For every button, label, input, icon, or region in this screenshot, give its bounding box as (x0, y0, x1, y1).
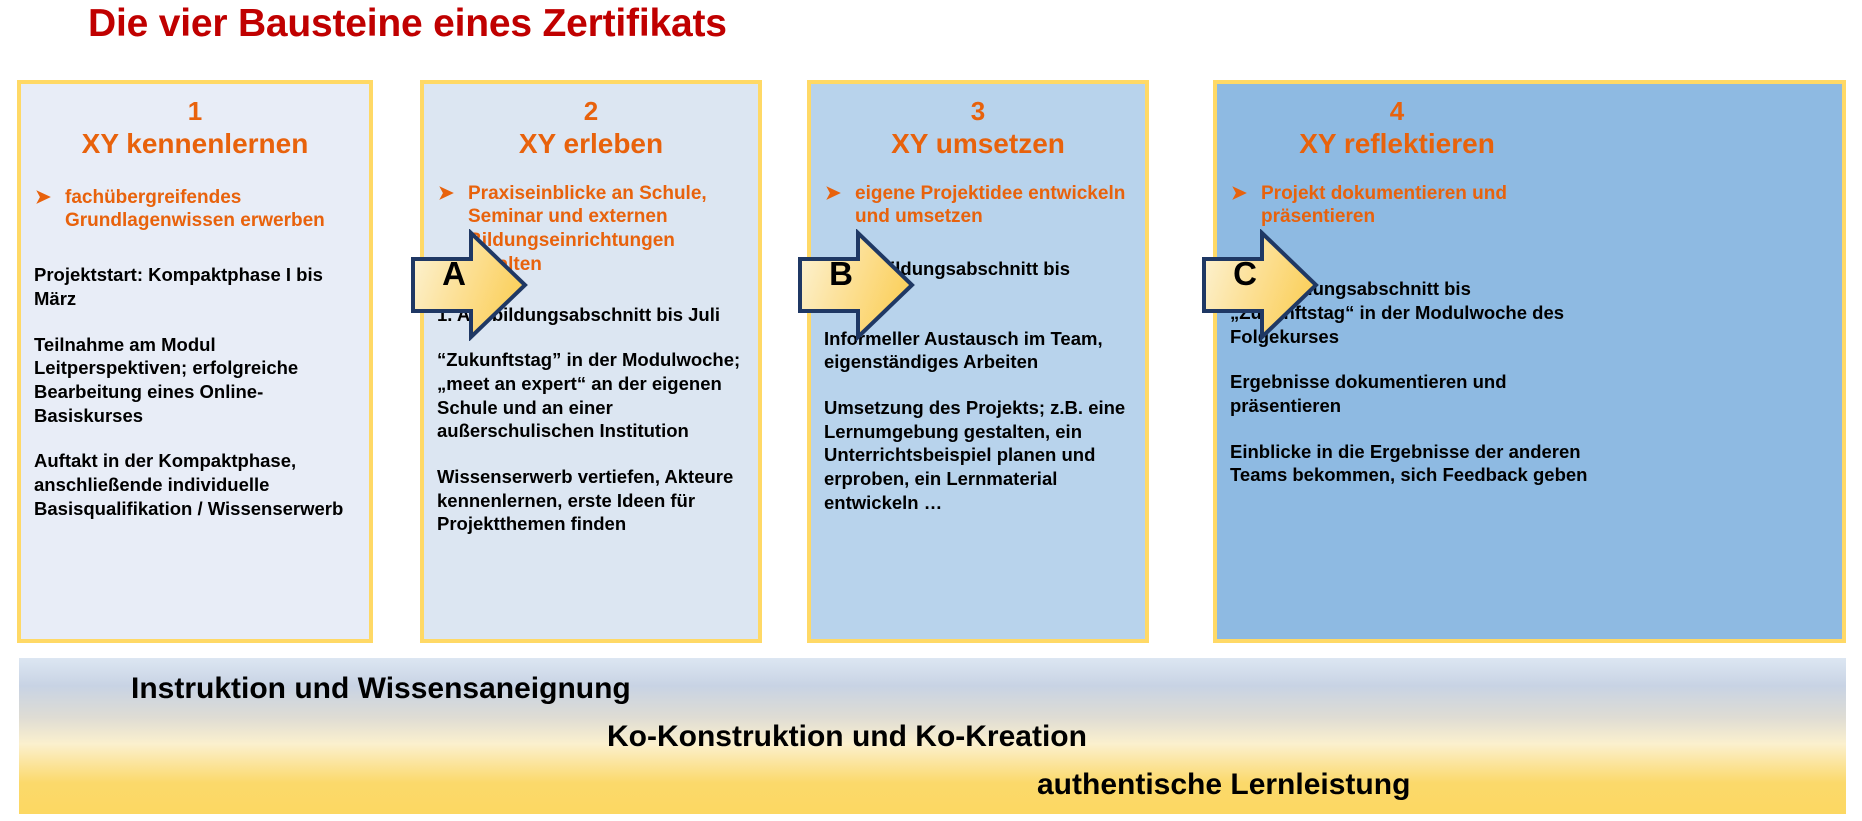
card-paragraph: Auftakt in der Kompaktphase, anschließen… (34, 449, 357, 520)
connector-arrow-b[interactable]: B (796, 229, 916, 341)
card-number-1: 1 (21, 96, 369, 127)
building-block-card-1[interactable]: 1 XY kennenlernen ➤ fachübergreifendes G… (17, 80, 373, 643)
card-paragraph: Teilnahme am Modul Leitperspektiven; erf… (34, 333, 357, 428)
card-paragraph: Umsetzung des Projekts; z.B. eine Lernum… (824, 396, 1133, 514)
card-heading-1: XY kennenlernen (21, 127, 369, 160)
card-bullet-row-1: ➤ fachübergreifendes Grundlagenwissen er… (21, 186, 369, 234)
connector-arrow-a[interactable]: A (409, 229, 529, 341)
card-paragraph: Wissenserwerb vertiefen, Akteure kennenl… (437, 465, 746, 536)
card-paragraph: Ergebnisse dokumentieren und präsentiere… (1230, 370, 1590, 417)
card-bullet-row-4: ➤ Projekt dokumentieren und präsentieren (1217, 182, 1583, 230)
card-body-1: Projektstart: Kompaktphase I bis März Te… (21, 263, 369, 520)
slide-canvas: Die vier Bausteine eines Zertifikats 1 X… (0, 0, 1862, 821)
card-paragraph: Einblicke in die Ergebnisse der anderen … (1230, 440, 1590, 487)
card-header-4: 4 XY reflektieren (1217, 84, 1577, 160)
card-bullet-text-4: Projekt dokumentieren und präsentieren (1261, 182, 1577, 230)
card-header-3: 3 XY umsetzen (811, 84, 1145, 160)
band-line-authentische-lernleistung: authentische Lernleistung (1037, 768, 1410, 802)
arrow-bullet-icon: ➤ (1217, 182, 1261, 230)
band-line-instruktion: Instruktion und Wissensaneignung (131, 672, 631, 706)
card-heading-4: XY reflektieren (1217, 127, 1577, 160)
card-bullet-text-3: eigene Projektidee entwickeln und umsetz… (855, 182, 1139, 230)
card-bullet-row-3: ➤ eigene Projektidee entwickeln und umse… (811, 182, 1145, 230)
card-bullet-text-1: fachübergreifendes Grundlagenwissen erwe… (65, 186, 363, 234)
arrow-bullet-icon: ➤ (811, 182, 855, 230)
progression-band: Instruktion und Wissensaneignung Ko-Kons… (19, 658, 1846, 814)
card-number-2: 2 (424, 96, 758, 127)
building-block-card-3[interactable]: 3 XY umsetzen ➤ eigene Projektidee entwi… (807, 80, 1149, 643)
card-heading-3: XY umsetzen (811, 127, 1145, 160)
connector-arrow-c[interactable]: C (1200, 229, 1320, 341)
building-block-card-4[interactable]: 4 XY reflektieren ➤ Projekt dokumentiere… (1213, 80, 1846, 643)
card-number-4: 4 (1217, 96, 1577, 127)
card-paragraph: “Zukunftstag” in der Modulwoche; „meet a… (437, 348, 746, 443)
card-number-3: 3 (811, 96, 1145, 127)
card-header-2: 2 XY erleben (424, 84, 758, 160)
card-heading-2: XY erleben (424, 127, 758, 160)
band-line-ko-konstruktion: Ko-Konstruktion und Ko-Kreation (607, 720, 1087, 754)
building-block-card-2[interactable]: 2 XY erleben ➤ Praxiseinblicke an Schule… (420, 80, 762, 643)
card-header-1: 1 XY kennenlernen (21, 84, 369, 160)
card-paragraph: Projektstart: Kompaktphase I bis März (34, 263, 357, 310)
arrow-bullet-icon: ➤ (21, 186, 65, 234)
page-title: Die vier Bausteine eines Zertifikats (88, 2, 727, 46)
